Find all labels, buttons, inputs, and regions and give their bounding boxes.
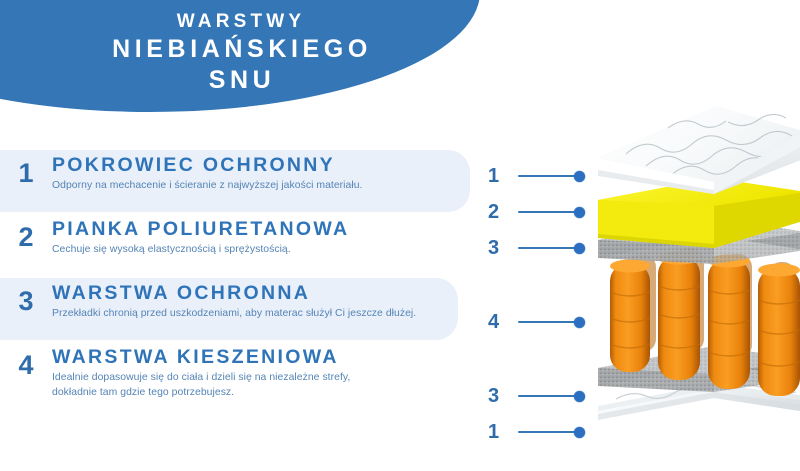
layer-title: PIANKA POLIURETANOWA [52,216,349,242]
layer-description: Odporny na mechacenie i ścieranie z najw… [52,179,363,194]
callout-marker[interactable]: 1 [488,158,598,194]
list-item[interactable]: 4 WARSTWA KIESZENIOWA Idealnie dopasowuj… [0,342,480,416]
callout-leader-line [518,211,576,213]
callout-marker[interactable]: 3 [488,230,598,266]
callout-leader-line [518,175,576,177]
layer-list: 1 POKROWIEC OCHRONNY Odporny na mechacen… [0,150,480,416]
infographic-root: WARSTWY NIEBIAŃSKIEGO SNU 1 POKROWIEC OC… [0,0,800,471]
callout-dot-icon [574,317,585,328]
layer-title: WARSTWA KIESZENIOWA [52,344,362,370]
layer-title: WARSTWA OCHRONNA [52,280,416,306]
mattress-illustration [596,96,800,436]
callout-marker[interactable]: 4 [488,304,598,340]
layer-number: 2 [0,214,52,253]
layer-number: 1 [0,150,52,189]
layer-number: 4 [0,342,52,381]
callout-number: 3 [488,385,510,408]
layer-text-block: PIANKA POLIURETANOWA Cechuje się wysoką … [52,214,349,258]
callout-leader-line [518,321,576,323]
callout-marker[interactable]: 2 [488,194,598,230]
layer-description: Idealnie dopasowuje się do ciała i dziel… [52,371,362,400]
spring-column [758,264,800,397]
callout-number: 1 [488,421,510,444]
list-item[interactable]: 3 WARSTWA OCHRONNA Przekładki chronią pr… [0,278,480,340]
callout-leader-line [518,431,576,433]
spring-column [610,260,650,373]
callout-dot-icon [574,427,585,438]
list-item[interactable]: 2 PIANKA POLIURETANOWA Cechuje się wysok… [0,214,480,276]
callout-number: 3 [488,237,510,260]
layer-number: 3 [0,278,52,317]
layer-title: POKROWIEC OCHRONNY [52,152,363,178]
layer-text-block: WARSTWA KIESZENIOWA Idealnie dopasowuje … [52,342,362,400]
callout-leader-line [518,247,576,249]
callout-number: 1 [488,165,510,188]
callout-number: 4 [488,311,510,334]
spring-column [708,255,750,390]
layer-text-block: WARSTWA OCHRONNA Przekładki chronią prze… [52,278,416,322]
layer-description: Cechuje się wysoką elastycznością i sprę… [52,243,349,258]
callout-dot-icon [574,391,585,402]
list-item[interactable]: 1 POKROWIEC OCHRONNY Odporny na mechacen… [0,150,480,212]
callout-list: 1 2 3 4 3 1 [488,158,598,450]
callout-marker[interactable]: 3 [488,378,598,414]
header-ellipse-shape [0,0,480,112]
callout-marker[interactable]: 1 [488,414,598,450]
layer-quilted-cover-top [598,106,800,194]
callout-leader-line [518,395,576,397]
callout-number: 2 [488,201,510,224]
layer-text-block: POKROWIEC OCHRONNY Odporny na mechacenie… [52,150,363,194]
spring-column [658,252,700,381]
callout-dot-icon [574,243,585,254]
callout-dot-icon [574,207,585,218]
layer-description: Przekładki chronią przed uszkodzeniami, … [52,307,416,322]
callout-dot-icon [574,171,585,182]
